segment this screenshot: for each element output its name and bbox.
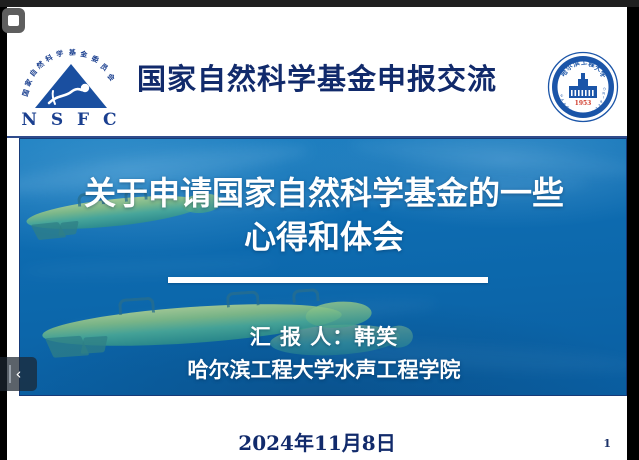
svg-text:基: 基 [68, 48, 77, 57]
title-divider [168, 277, 488, 283]
svg-text:金: 金 [79, 49, 89, 59]
header-title: 国家自然科学基金申报交流 [7, 65, 627, 94]
slide-header: 国 家 自 然 科 学 基 金 委 员 会 [7, 7, 627, 138]
page-number: 1 [603, 437, 611, 450]
presenter-affiliation: 哈尔滨工程大学水声工程学院 [20, 354, 627, 384]
slide-date: 2024年11月8日 [7, 427, 627, 456]
presentation-slide: 国 家 自 然 科 学 基 金 委 员 会 [7, 7, 627, 460]
svg-text:学: 学 [55, 48, 64, 59]
previous-slide-button[interactable]: ‹ [0, 357, 37, 391]
control-separator [9, 365, 11, 383]
hero-underwater-panel: 关于申请国家自然科学基金的一些 心得和体会 汇 报 人：韩笑 哈尔滨工程大学水声… [19, 138, 627, 396]
stop-button[interactable] [2, 8, 25, 33]
chevron-left-icon: ‹ [16, 367, 22, 382]
slide-title-line-1: 关于申请国家自然科学基金的一些 [20, 171, 627, 215]
svg-text:N S F C: N S F C [21, 110, 120, 129]
svg-text:1953: 1953 [575, 100, 592, 107]
stop-square-icon [8, 15, 19, 26]
slide-title-line-2: 心得和体会 [20, 215, 627, 259]
harbin-engineering-university-logo: 哈 尔 滨 工 程 大 学 [547, 51, 619, 123]
slide-title: 关于申请国家自然科学基金的一些 心得和体会 [20, 171, 627, 259]
viewer-top-chrome [0, 0, 639, 7]
slide-viewer: 国 家 自 然 科 学 基 金 委 员 会 [0, 0, 639, 460]
hero-text-block: 关于申请国家自然科学基金的一些 心得和体会 汇 报 人：韩笑 哈尔滨工程大学水声… [20, 139, 627, 396]
svg-text:委: 委 [89, 53, 100, 64]
presenter-name: 汇 报 人：韩笑 [20, 321, 627, 351]
svg-text:科: 科 [44, 53, 54, 64]
